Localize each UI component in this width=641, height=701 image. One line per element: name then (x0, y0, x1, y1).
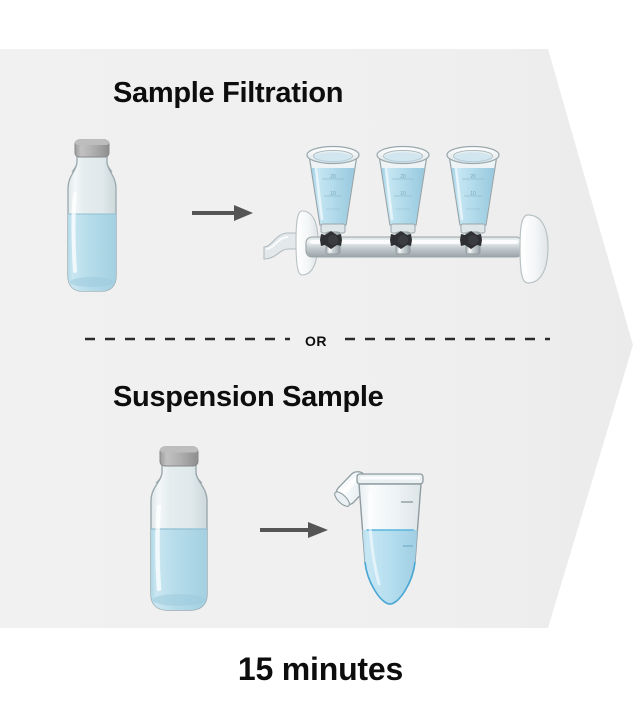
divider-or-label: OR (305, 333, 327, 349)
sample-vial-icon (140, 443, 218, 615)
arrow-right-icon (190, 200, 255, 226)
duration-label: 15 minutes (0, 651, 641, 688)
microcentrifuge-tube-icon (325, 434, 445, 614)
figure-canvas: Sample Filtration (0, 0, 641, 701)
sample-vial-icon (58, 136, 126, 296)
divider-dashed-left (85, 336, 290, 342)
arrow-right-icon (258, 517, 330, 543)
section-title-suspension-sample: Suspension Sample (113, 381, 383, 414)
filtration-manifold-icon: 20 10 (262, 133, 562, 293)
section-title-sample-filtration: Sample Filtration (113, 77, 343, 110)
divider-dashed-right (345, 336, 550, 342)
